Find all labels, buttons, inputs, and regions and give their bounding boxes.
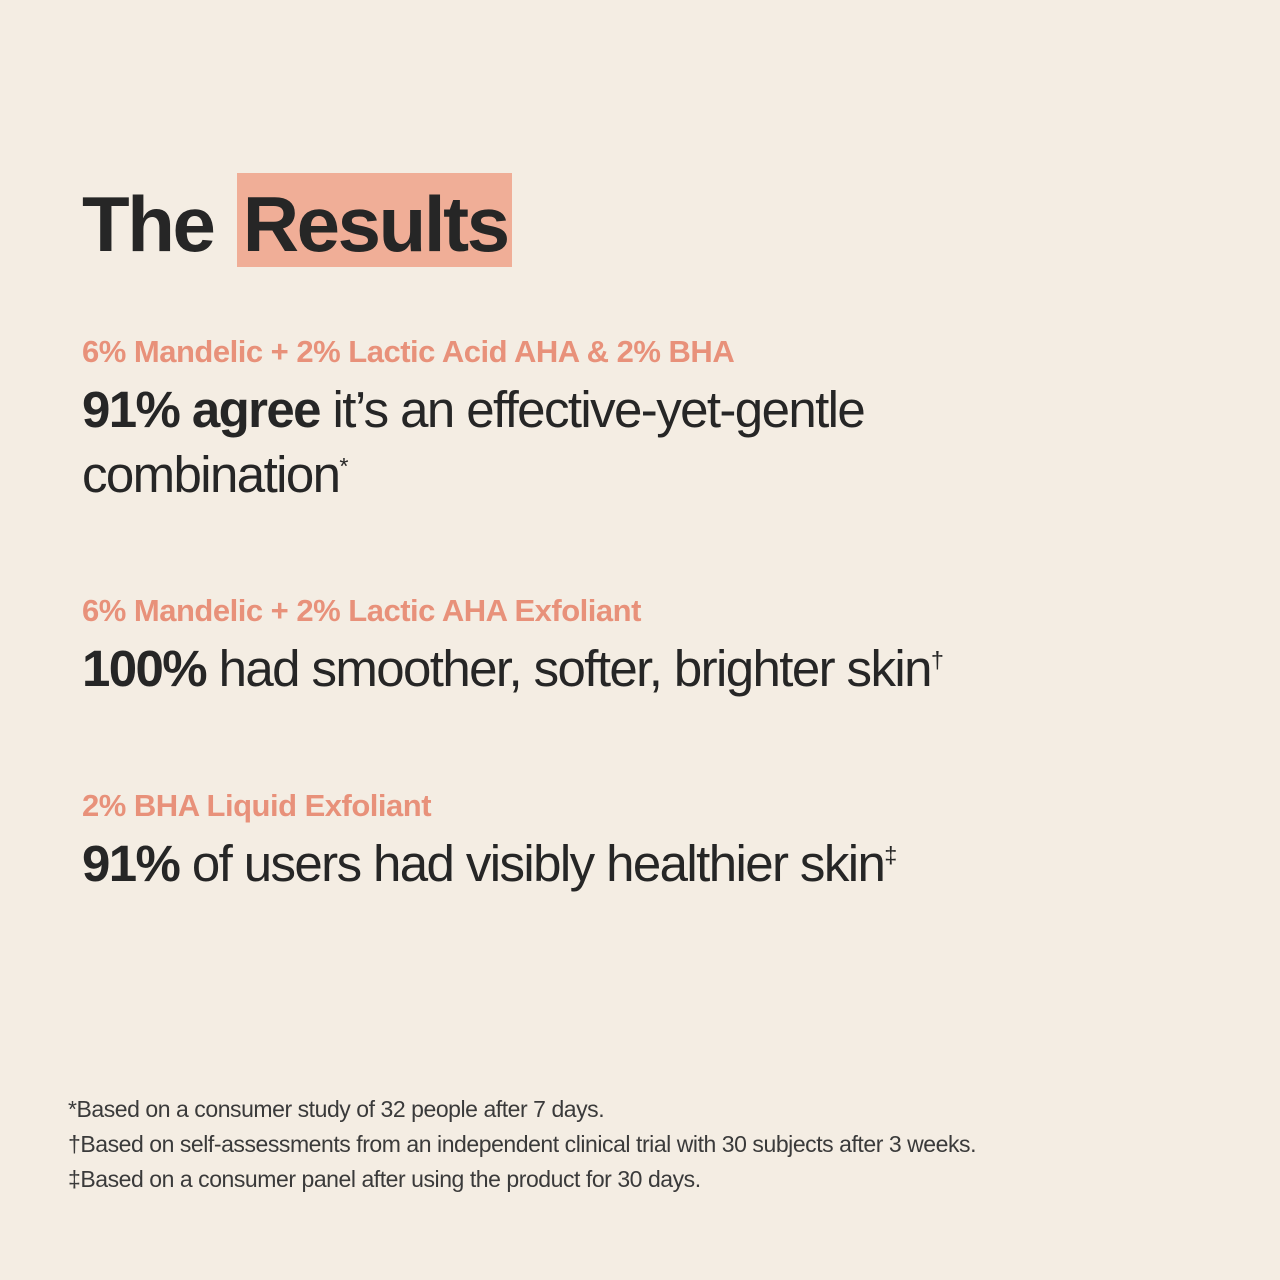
title-highlight: Results	[237, 185, 512, 263]
stat-headline: 100% had smoother, softer, brighter skin…	[82, 636, 1242, 701]
stat-emphasis: agree	[179, 381, 320, 438]
stat-group: 2% BHA Liquid Exfoliant 91% of users had…	[82, 788, 1242, 896]
stat-value: 91%	[82, 381, 179, 438]
title-highlight-text: Results	[243, 180, 508, 268]
stat-eyebrow: 6% Mandelic + 2% Lactic Acid AHA & 2% BH…	[82, 334, 1242, 371]
stat-eyebrow: 6% Mandelic + 2% Lactic AHA Exfoliant	[82, 593, 1242, 630]
stat-rest: had smoother, softer, brighter skin	[206, 640, 931, 697]
title-text: The Results	[82, 185, 512, 263]
stat-headline: 91% of users had visibly healthier skin‡	[82, 831, 1242, 896]
stat-eyebrow: 2% BHA Liquid Exfoliant	[82, 788, 1242, 825]
footnotes: *Based on a consumer study of 32 people …	[68, 1092, 1248, 1197]
title-lead: The	[82, 180, 233, 268]
stat-footnote-marker: ‡	[884, 842, 895, 868]
footnote-item: *Based on a consumer study of 32 people …	[68, 1092, 1248, 1127]
stat-headline: 91% agree it’s an effective-yet-gentle c…	[82, 377, 872, 508]
stat-footnote-marker: *	[339, 453, 347, 479]
stat-rest: of users had visibly healthier skin	[179, 835, 884, 892]
footnote-item: †Based on self-assessments from an indep…	[68, 1127, 1248, 1162]
footnote-item: ‡Based on a consumer panel after using t…	[68, 1162, 1248, 1197]
page-title: The Results	[82, 176, 512, 272]
stat-value: 100%	[82, 640, 206, 697]
stat-group: 6% Mandelic + 2% Lactic Acid AHA & 2% BH…	[82, 334, 1242, 507]
results-poster: The Results 6% Mandelic + 2% Lactic Acid…	[0, 0, 1280, 1280]
stat-group: 6% Mandelic + 2% Lactic AHA Exfoliant 10…	[82, 593, 1242, 701]
stat-value: 91%	[82, 835, 179, 892]
stat-footnote-marker: †	[931, 647, 942, 673]
